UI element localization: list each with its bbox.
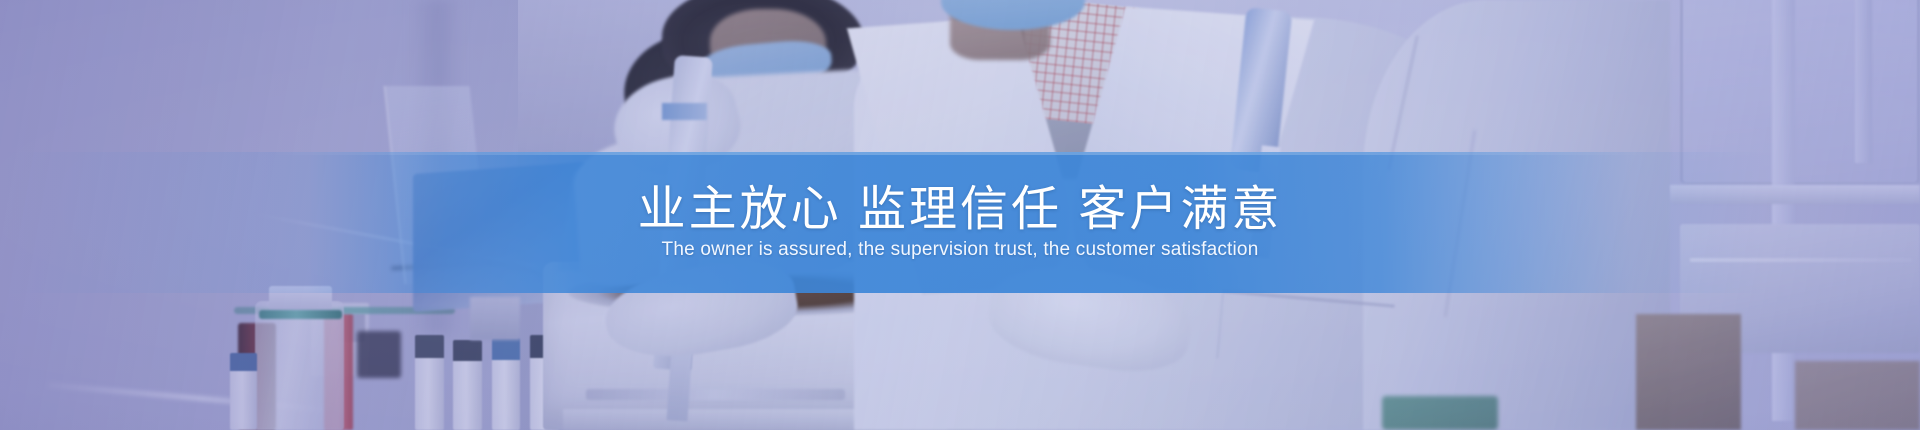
banner-slogan-block: 业主放心 监理信任 客户满意 The owner is assured, the… <box>0 152 1920 293</box>
banner-headline: 业主放心 监理信任 客户满意 <box>638 184 1283 236</box>
hero-banner: 业主放心 监理信任 客户满意 The owner is assured, the… <box>0 0 1920 430</box>
banner-subline: The owner is assured, the supervision tr… <box>662 239 1259 261</box>
